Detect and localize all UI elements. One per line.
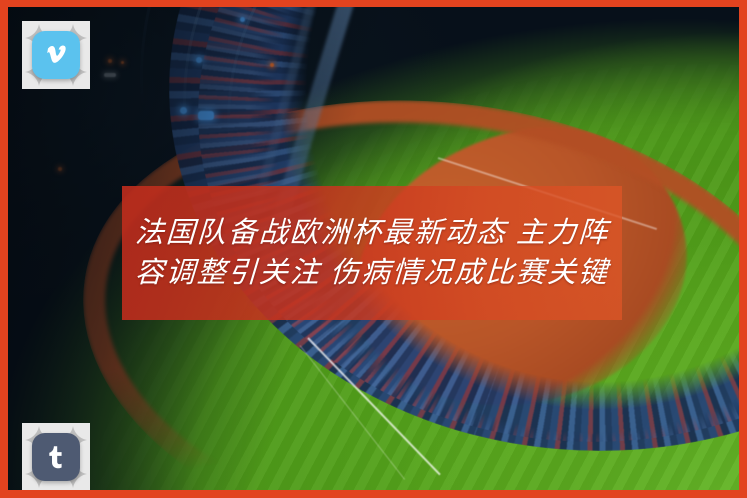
headline-line-2: 容调整引关注 伤病情况成比赛关键 bbox=[134, 254, 610, 292]
vimeo-icon[interactable] bbox=[32, 31, 80, 79]
vimeo-icon-tile[interactable] bbox=[22, 21, 90, 89]
stadium-photo: 法国队备战欧洲杯最新动态 主力阵 容调整引关注 伤病情况成比赛关键 bbox=[8, 7, 739, 490]
headline-banner: 法国队备战欧洲杯最新动态 主力阵 容调整引关注 伤病情况成比赛关键 bbox=[122, 186, 622, 320]
image-frame: 法国队备战欧洲杯最新动态 主力阵 容调整引关注 伤病情况成比赛关键 bbox=[0, 0, 747, 498]
headline-line-1: 法国队备战欧洲杯最新动态 主力阵 bbox=[134, 214, 610, 252]
tumblr-icon[interactable] bbox=[32, 433, 80, 481]
tumblr-icon-tile[interactable] bbox=[22, 423, 90, 490]
